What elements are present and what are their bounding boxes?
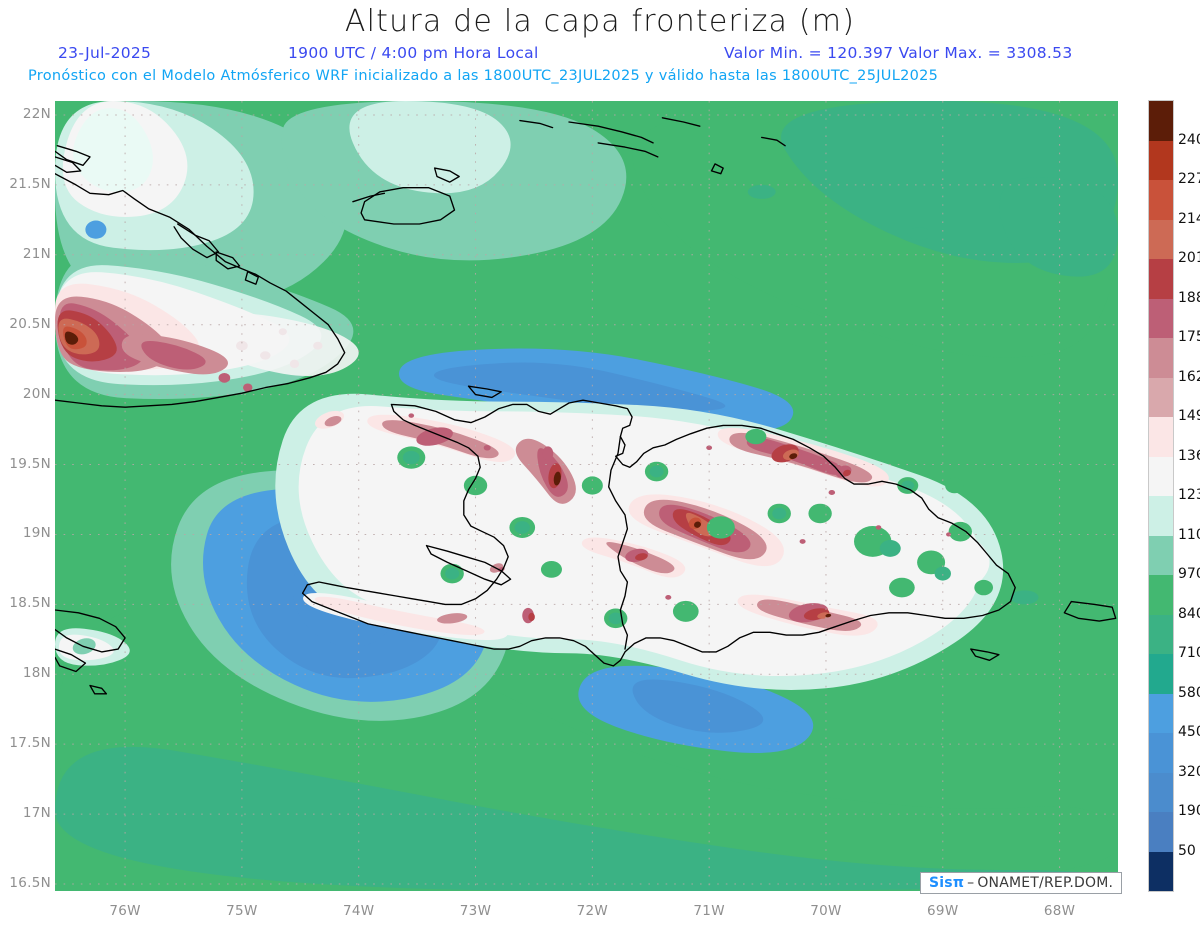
- x-axis-tick-label: 68W: [1044, 903, 1075, 919]
- y-axis-tick: 18.5N: [0, 595, 55, 611]
- y-axis-tick: 20.5N: [0, 316, 55, 332]
- colorbar-tick-label: 1750: [1178, 329, 1200, 345]
- y-axis-tick-label: 20.5N: [9, 316, 55, 332]
- boundary-layer-height-map: [55, 101, 1118, 891]
- colorbar-tick-label: 2010: [1178, 250, 1200, 266]
- colorbar-tick-label: 1880: [1178, 290, 1200, 306]
- x-axis-tick-label: 70W: [810, 903, 841, 919]
- colorbar-segment: [1149, 852, 1173, 892]
- colorbar[interactable]: [1148, 100, 1174, 892]
- x-axis-tick-label: 69W: [927, 903, 958, 919]
- colorbar-segment: [1149, 101, 1173, 141]
- y-axis-tick: 20N: [0, 386, 55, 402]
- colorbar-tick-label: 320: [1178, 764, 1200, 780]
- y-axis-tick-label: 18.5N: [9, 595, 55, 611]
- x-axis-tick-label: 76W: [109, 903, 140, 919]
- watermark-sispi-onamet: Sisπ – ONAMET/REP.DOM.: [920, 872, 1122, 894]
- colorbar-segment: [1149, 812, 1173, 852]
- y-axis-tick: 18N: [0, 665, 55, 681]
- colorbar-tick-label: 1100: [1178, 527, 1200, 543]
- colorbar-segment: [1149, 457, 1173, 497]
- colorbar-tick-label: 840: [1178, 606, 1200, 622]
- y-axis-tick-label: 16.5N: [9, 875, 55, 891]
- colorbar-tick-label: 970: [1178, 566, 1200, 582]
- watermark-separator: –: [967, 875, 974, 891]
- pi-icon: π: [953, 875, 964, 891]
- colorbar-tick-label: 710: [1178, 645, 1200, 661]
- colorbar-segment: [1149, 259, 1173, 299]
- y-axis-tick-label: 18N: [23, 665, 55, 681]
- forecast-date: 23-Jul-2025: [58, 44, 151, 62]
- colorbar-tick-label: 50: [1178, 843, 1196, 859]
- colorbar-tick-label: 2270: [1178, 171, 1200, 187]
- page-title: Altura de la capa fronteriza (m): [0, 4, 1200, 39]
- x-axis-tick-label: 75W: [226, 903, 257, 919]
- y-axis-tick: 21.5N: [0, 176, 55, 192]
- colorbar-segment: [1149, 338, 1173, 378]
- y-axis-tick-label: 21N: [23, 246, 55, 262]
- colorbar-segment: [1149, 575, 1173, 615]
- colorbar-segment: [1149, 536, 1173, 576]
- map-plot-area[interactable]: [55, 101, 1118, 891]
- colorbar-segment: [1149, 773, 1173, 813]
- colorbar-tick-label: 450: [1178, 724, 1200, 740]
- forecast-time: 1900 UTC / 4:00 pm Hora Local: [288, 44, 539, 62]
- colorbar-segment: [1149, 141, 1173, 181]
- colorbar-segment: [1149, 496, 1173, 536]
- colorbar-tick-label: 580: [1178, 685, 1200, 701]
- y-axis-tick-label: 17N: [23, 805, 55, 821]
- colorbar-segment: [1149, 733, 1173, 773]
- watermark-brand: Sisπ: [929, 875, 964, 891]
- x-axis-tick-label: 73W: [460, 903, 491, 919]
- y-axis-tick: 22N: [0, 106, 55, 122]
- colorbar-tick-label: 1230: [1178, 487, 1200, 503]
- colorbar-tick-label: 2400: [1178, 132, 1200, 148]
- x-axis-tick-label: 71W: [693, 903, 724, 919]
- y-axis-tick-label: 17.5N: [9, 735, 55, 751]
- y-axis-tick-label: 20N: [23, 386, 55, 402]
- colorbar-tick-label: 190: [1178, 803, 1200, 819]
- colorbar-segment: [1149, 220, 1173, 260]
- colorbar-segment: [1149, 694, 1173, 734]
- y-axis-tick-label: 22N: [23, 106, 55, 122]
- y-axis-tick-label: 21.5N: [9, 176, 55, 192]
- colorbar-segment: [1149, 654, 1173, 694]
- colorbar-segment: [1149, 417, 1173, 457]
- x-axis-tick-label: 72W: [577, 903, 608, 919]
- y-axis-tick: 17.5N: [0, 735, 55, 751]
- y-axis-tick: 19N: [0, 525, 55, 541]
- colorbar-segment: [1149, 378, 1173, 418]
- value-range-label: Valor Min. = 120.397 Valor Max. = 3308.5…: [724, 44, 1072, 62]
- colorbar-tick-label: 1360: [1178, 448, 1200, 464]
- y-axis-tick: 16.5N: [0, 875, 55, 891]
- colorbar-segment: [1149, 180, 1173, 220]
- colorbar-segment: [1149, 299, 1173, 339]
- y-axis-tick: 17N: [0, 805, 55, 821]
- y-axis-tick: 21N: [0, 246, 55, 262]
- colorbar-tick-label: 2140: [1178, 211, 1200, 227]
- colorbar-segment: [1149, 615, 1173, 655]
- x-axis-tick-label: 74W: [343, 903, 374, 919]
- model-description: Pronóstico con el Modelo Atmósferico WRF…: [28, 68, 938, 84]
- colorbar-tick-label: 1490: [1178, 408, 1200, 424]
- watermark-org: ONAMET/REP.DOM.: [977, 875, 1113, 891]
- y-axis-tick: 19.5N: [0, 456, 55, 472]
- colorbar-tick-label: 1620: [1178, 369, 1200, 385]
- y-axis-tick-label: 19N: [23, 525, 55, 541]
- y-axis-tick-label: 19.5N: [9, 456, 55, 472]
- watermark-brand-sis: Sis: [929, 875, 953, 891]
